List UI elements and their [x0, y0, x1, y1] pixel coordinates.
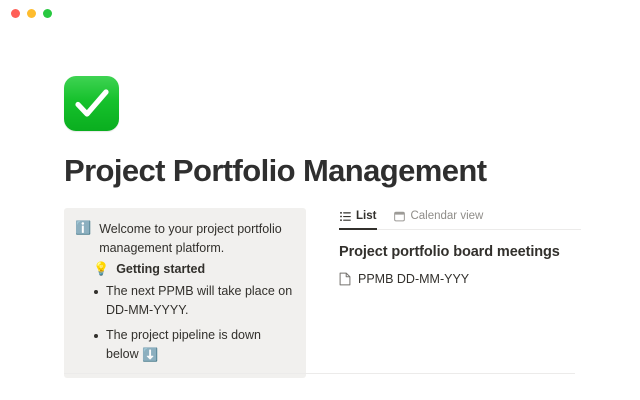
list-icon [340, 211, 351, 222]
right-column: List Calendar view Project portfolio boa… [339, 208, 581, 286]
list-item: The next PPMB will take place on DD-MM-Y… [106, 282, 294, 320]
information-icon: ℹ️ [75, 222, 91, 235]
list-item: The project pipeline is down below ⬇️ [106, 326, 294, 364]
bullet-text: The project pipeline is down below [106, 328, 261, 361]
left-column: ℹ️ Welcome to your project portfolio man… [64, 208, 306, 378]
window-titlebar [0, 0, 640, 26]
getting-started-item[interactable]: 💡 Getting started [93, 262, 294, 276]
page-title: Project Portfolio Management [64, 153, 640, 189]
maximize-window-button[interactable] [43, 9, 52, 18]
view-tabs: List Calendar view [339, 208, 581, 230]
calendar-icon [394, 211, 405, 222]
light-bulb-icon: 💡 [93, 263, 109, 276]
callout-block[interactable]: ℹ️ Welcome to your project portfolio man… [64, 208, 306, 378]
callout-header: ℹ️ Welcome to your project portfolio man… [75, 220, 294, 258]
page-body: Project Portfolio Management ℹ️ Welcome … [0, 76, 640, 378]
minimize-window-button[interactable] [27, 9, 36, 18]
callout-bullet-list: The next PPMB will take place on DD-MM-Y… [75, 282, 294, 364]
tab-calendar-label: Calendar view [410, 210, 483, 222]
getting-started-label: Getting started [116, 262, 205, 276]
window-controls [11, 9, 52, 18]
down-arrow-icon: ⬇️ [142, 349, 158, 362]
document-icon [339, 272, 351, 286]
callout-text: Welcome to your project portfolio manage… [99, 220, 294, 258]
board-title: Project portfolio board meetings [339, 244, 581, 260]
check-mark-icon[interactable] [64, 76, 119, 131]
close-window-button[interactable] [11, 9, 20, 18]
tab-calendar-view[interactable]: Calendar view [393, 208, 484, 229]
document-label: PPMB DD-MM-YYY [358, 272, 469, 286]
list-item[interactable]: PPMB DD-MM-YYY [339, 272, 581, 286]
bullet-text: The next PPMB will take place on DD-MM-Y… [106, 284, 292, 317]
content-columns: ℹ️ Welcome to your project portfolio man… [64, 208, 640, 378]
tab-list-label: List [356, 210, 376, 222]
section-divider [64, 373, 575, 374]
tab-list[interactable]: List [339, 208, 377, 229]
